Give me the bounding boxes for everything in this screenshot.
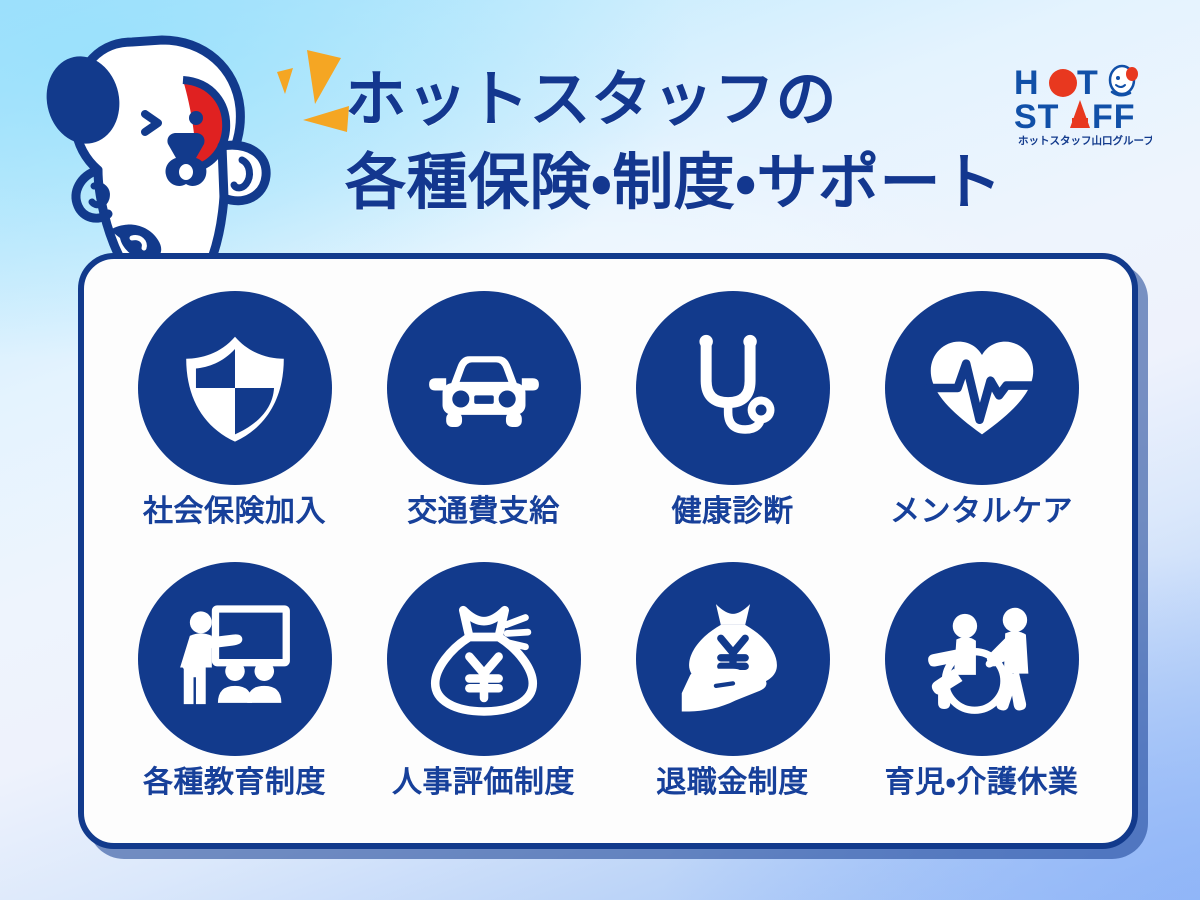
car-front-icon: [387, 291, 581, 485]
heartbeat-icon: [885, 291, 1079, 485]
header: ホットスタッフの 各種保険・制度・サポート H T ST FF ホットスタッフ山…: [0, 0, 1200, 250]
benefit-label: 健康診断: [672, 497, 794, 527]
svg-text:ST: ST: [1014, 98, 1059, 136]
benefit-item-jinji-hyouka[interactable]: 人事評価制度: [359, 554, 608, 825]
benefit-label: 育児・介護休業: [885, 768, 1079, 798]
wheelchair-care-icon: [885, 562, 1079, 756]
benefit-item-kenkou-shindan[interactable]: 健康診断: [608, 283, 857, 554]
title-line-1: ホットスタッフの: [345, 58, 1045, 141]
shield-icon: [138, 291, 332, 485]
money-bag-in-hand-icon: [636, 562, 830, 756]
benefit-item-kyouiku-seido[interactable]: 各種教育制度: [110, 554, 359, 825]
stethoscope-icon: [636, 291, 830, 485]
benefits-card: 社会保険加入: [78, 253, 1138, 849]
benefit-item-shakai-hoken[interactable]: 社会保険加入: [110, 283, 359, 554]
benefit-item-koutsuuhi[interactable]: 交通費支給: [359, 283, 608, 554]
benefit-item-ikuji-kaigo[interactable]: 育児・介護休業: [857, 554, 1106, 825]
benefit-label: 人事評価制度: [392, 768, 575, 798]
svg-text:H: H: [1014, 64, 1040, 102]
benefit-label: メンタルケア: [890, 497, 1073, 527]
benefit-label: 交通費支給: [407, 497, 560, 527]
benefits-grid: 社会保険加入: [84, 259, 1132, 843]
benefit-item-taishokukin[interactable]: 退職金制度: [608, 554, 857, 825]
hot-staff-logo[interactable]: H T ST FF ホットスタッフ山口グループ: [1012, 58, 1152, 148]
svg-text:T: T: [1077, 64, 1099, 102]
money-bag-outline-icon: [387, 562, 581, 756]
benefit-item-mental-care[interactable]: メンタルケア: [857, 283, 1106, 554]
benefit-label: 退職金制度: [656, 768, 809, 798]
benefit-label: 社会保険加入: [143, 497, 326, 527]
logo-tagline: ホットスタッフ山口グループ: [1018, 134, 1152, 147]
training-board-icon: [138, 562, 332, 756]
title-line-2: 各種保険・制度・サポート: [345, 141, 1045, 224]
svg-text:FF: FF: [1092, 98, 1136, 136]
benefit-label: 各種教育制度: [143, 768, 326, 798]
page-title: ホットスタッフの 各種保険・制度・サポート: [345, 58, 1045, 224]
hot-staff-dog-mascot: [36, 34, 286, 264]
